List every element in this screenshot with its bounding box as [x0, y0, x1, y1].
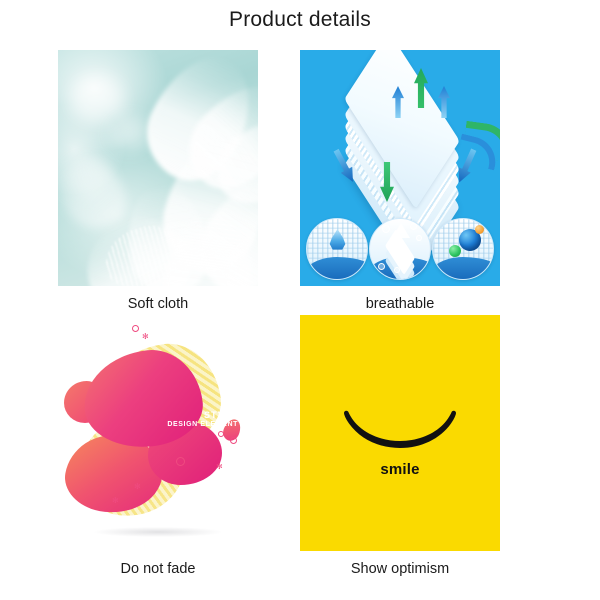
product-details-page: Product details: [0, 0, 600, 600]
bokeh-highlight: [110, 116, 150, 152]
feature-card-show-optimism[interactable]: smile Show optimism: [300, 315, 500, 578]
blob-overlay-text: STYLE DESIGN ELEMENT: [154, 411, 238, 428]
smile-label: smile: [300, 461, 500, 478]
water-surface: [432, 257, 494, 280]
water-surface: [306, 257, 368, 280]
card-caption-soft-cloth: Soft cloth: [58, 295, 258, 313]
green-particle: [449, 245, 461, 257]
do-not-fade-image[interactable]: STYLE DESIGN ELEMENT ✻ ✻ ✻ ✻: [58, 315, 258, 551]
card-caption-show-optimism: Show optimism: [300, 560, 500, 578]
page-title: Product details: [0, 8, 600, 32]
bubble-shape: [416, 235, 422, 241]
vapor-peak-shape: [392, 223, 410, 238]
breathability-diagram: [300, 50, 500, 286]
bubble-shape: [410, 223, 417, 230]
sparkle-icon: ✻: [112, 497, 119, 505]
feature-card-grid: Soft cloth: [0, 46, 600, 594]
breathable-image[interactable]: [300, 50, 500, 286]
ring-dot-icon: [230, 437, 237, 444]
water-drop-icon: [306, 218, 368, 280]
feature-card-soft-cloth[interactable]: Soft cloth: [58, 50, 258, 313]
blob-drop-shadow: [94, 527, 222, 537]
feather-photo: [58, 50, 258, 286]
feature-card-breathable[interactable]: breathable: [300, 50, 500, 313]
abstract-blob-graphic: STYLE DESIGN ELEMENT ✻ ✻ ✻ ✻: [58, 315, 258, 551]
card-caption-breathable: breathable: [300, 295, 500, 313]
globe-icon: [432, 218, 494, 280]
bubble-shape: [378, 263, 385, 270]
sparkle-icon: ✻: [134, 483, 141, 491]
fabric-layer-stack: [318, 66, 486, 190]
smile-graphic: smile: [300, 315, 500, 551]
show-optimism-image[interactable]: smile: [300, 315, 500, 551]
blob-text-style: STYLE: [154, 411, 238, 421]
ring-dot-icon: [132, 325, 139, 332]
mini-layer-stack: [378, 239, 422, 263]
sparkle-icon: ✻: [142, 333, 149, 341]
orange-particle: [475, 225, 484, 234]
bokeh-highlight: [70, 76, 124, 122]
bubble-shape: [394, 267, 400, 273]
card-caption-do-not-fade: Do not fade: [58, 560, 258, 578]
ring-dot-icon: [218, 431, 224, 437]
feature-card-do-not-fade[interactable]: STYLE DESIGN ELEMENT ✻ ✻ ✻ ✻ Do not fade: [58, 315, 258, 578]
sparkle-icon: ✻: [216, 463, 223, 471]
layered-fabric-icon: [369, 218, 431, 280]
blob-text-element: DESIGN ELEMENT: [154, 421, 238, 429]
soft-cloth-image[interactable]: [58, 50, 258, 286]
smile-curve-icon: [340, 409, 460, 451]
feature-icon-row: [306, 204, 494, 280]
bubble-shape: [382, 225, 390, 233]
ring-dot-icon: [176, 457, 185, 466]
